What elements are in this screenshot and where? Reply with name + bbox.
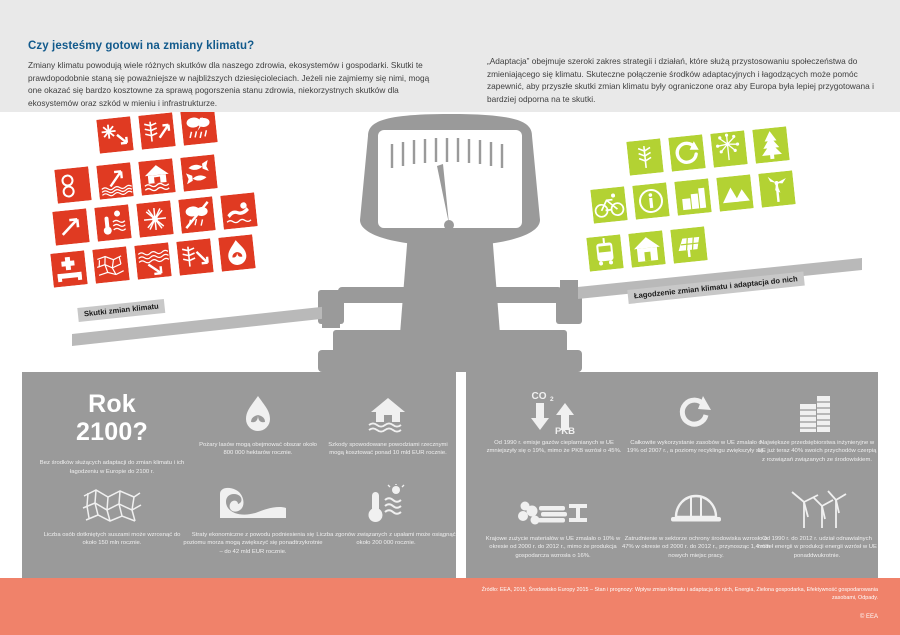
balance-scale-illustration: Skutki zmian klimatu Łagodzenie zmian kl…: [0, 112, 900, 372]
medical-bed-icon: [50, 250, 87, 287]
crop-growth-arrow-icon: [138, 112, 175, 149]
flooded-house-icon: [322, 390, 454, 436]
fact-item: Liczba zgonów związanych z upałami może …: [316, 480, 456, 548]
page-title: Czy jesteśmy gotowi na zmiany klimatu?: [28, 40, 443, 52]
recycle-arrow-icon: [668, 134, 705, 171]
fact-text: Pożary lasów mogą obejmować obszar około…: [194, 441, 322, 458]
fact-text: Zatrudnienie w sektorze ochrony środowis…: [622, 535, 770, 560]
fact-item: Zatrudnienie w sektorze ochrony środowis…: [622, 484, 770, 560]
fact-text: Od 1990 r. emisje gazów cieplarnianych w…: [484, 439, 624, 456]
header-intro-text: Zmiany klimatu powodują wiele różnych sk…: [28, 59, 443, 109]
fact-item: Straty ekonomiczne z powodu podniesienia…: [182, 480, 324, 556]
raw-materials-beams-icon: [480, 484, 626, 530]
thermometer-heatwave-icon: [94, 204, 131, 241]
no-rain-drought-icon: [178, 196, 215, 233]
snowflake-heat-arrow-icon: [96, 116, 133, 153]
solutions-panel: CO 2 PKB Od 1990 r. emisje gazów cieplar…: [466, 372, 878, 578]
impacts-panel: Rok 2100? Bez środków służących adaptacj…: [22, 372, 456, 578]
fact-text: Szkody spowodowane powodziami rzecznymi …: [322, 441, 454, 458]
year-headline-block: Rok 2100? Bez środków służących adaptacj…: [36, 390, 188, 476]
fact-item: Pożary lasów mogą obejmować obszar około…: [194, 390, 322, 458]
mountain-landscape-icon: [716, 174, 753, 211]
fish-migration-icon: [180, 154, 217, 191]
fact-text: Krajowe zużycie materiałów w UE zmalało …: [480, 535, 626, 560]
svg-text:PKB: PKB: [555, 426, 575, 434]
wind-turbines-icon: [756, 484, 878, 530]
hard-hat-icon: [622, 484, 770, 530]
header-adaptation-text: „Adaptacja” obejmuje szeroki zakres stra…: [487, 55, 877, 105]
swimmer-water-icon: [220, 192, 257, 229]
fact-text: Największe przedsiębiorstwa inżynieryjne…: [756, 439, 878, 464]
co2-cloud-icon: [54, 166, 91, 203]
fact-text: Całkowite wykorzystanie zasobów w UE zma…: [626, 439, 766, 456]
insulated-house-icon: [628, 230, 665, 267]
pine-tree-icon: [752, 126, 789, 163]
dandelion-seed-icon: [710, 130, 747, 167]
tram-transport-icon: [586, 234, 623, 271]
year-headline-line2: 2100?: [36, 418, 188, 446]
cracked-dry-soil-icon: [92, 246, 129, 283]
wheat-crop-icon: [626, 138, 663, 175]
crop-decline-arrow-icon: [176, 238, 213, 275]
fact-text: Straty ekonomiczne z powodu podniesienia…: [182, 531, 324, 556]
sea-level-rise-icon: [96, 162, 133, 199]
factory-emission-icon: [674, 178, 711, 215]
insect-pest-icon: [136, 200, 173, 237]
information-icon: [632, 182, 669, 219]
fact-item: Największe przedsiębiorstwa inżynieryjne…: [756, 388, 878, 464]
wildfire-flame-icon: [194, 390, 322, 436]
year-headline-line1: Rok: [36, 390, 188, 418]
fact-text: Od 1990 r. do 2012 r. udział odnawialnyc…: [756, 535, 878, 560]
wildfire-icon: [218, 234, 255, 271]
solar-panel-icon: [670, 226, 707, 263]
header-banner: Czy jesteśmy gotowi na zmiany klimatu? Z…: [0, 0, 900, 112]
bicycle-icon: [590, 186, 627, 223]
fact-item: Krajowe zużycie materiałów w UE zmalało …: [480, 484, 626, 560]
fact-item: Od 1990 r. do 2012 r. udział odnawialnyc…: [756, 484, 878, 560]
wind-turbine-icon: [758, 170, 795, 207]
fact-item: CO 2 PKB Od 1990 r. emisje gazów cieplar…: [484, 388, 624, 456]
fact-text: Liczba osób dotkniętych suszami może wzr…: [36, 531, 188, 548]
cracked-dry-soil-icon: [36, 480, 188, 526]
fact-text: Liczba zgonów związanych z upałami może …: [316, 531, 456, 548]
header-left-column: Czy jesteśmy gotowi na zmiany klimatu? Z…: [28, 40, 443, 109]
svg-text:CO: CO: [532, 391, 547, 402]
heat-arrow-icon: [52, 208, 89, 245]
office-buildings-icon: [756, 388, 878, 434]
svg-text:2: 2: [550, 396, 554, 403]
fact-item: Liczba osób dotkniętych suszami może wzr…: [36, 480, 188, 548]
thermometer-heatwave-icon: [316, 480, 456, 526]
co2-down-gdp-up-icon: CO 2 PKB: [484, 388, 624, 434]
source-citation: Źródło: EEA, 2015, Środowisko Europy 201…: [478, 586, 878, 602]
flooded-house-icon: [138, 158, 175, 195]
copyright-notice: © EEA: [860, 614, 878, 620]
footer-banner: Źródło: EEA, 2015, Środowisko Europy 201…: [0, 578, 900, 635]
flood-wave-arrow-icon: [134, 242, 171, 279]
year-headline-caption: Bez środków służących adaptacji do zmian…: [36, 459, 188, 476]
sea-wave-icon: [182, 480, 324, 526]
fact-item: Szkody spowodowane powodziami rzecznymi …: [322, 390, 454, 458]
facts-panels: Rok 2100? Bez środków służących adaptacj…: [0, 372, 900, 578]
fact-item: Całkowite wykorzystanie zasobów w UE zma…: [626, 388, 766, 456]
recycle-arrow-icon: [626, 388, 766, 434]
storm-rain-icon: [180, 112, 217, 146]
